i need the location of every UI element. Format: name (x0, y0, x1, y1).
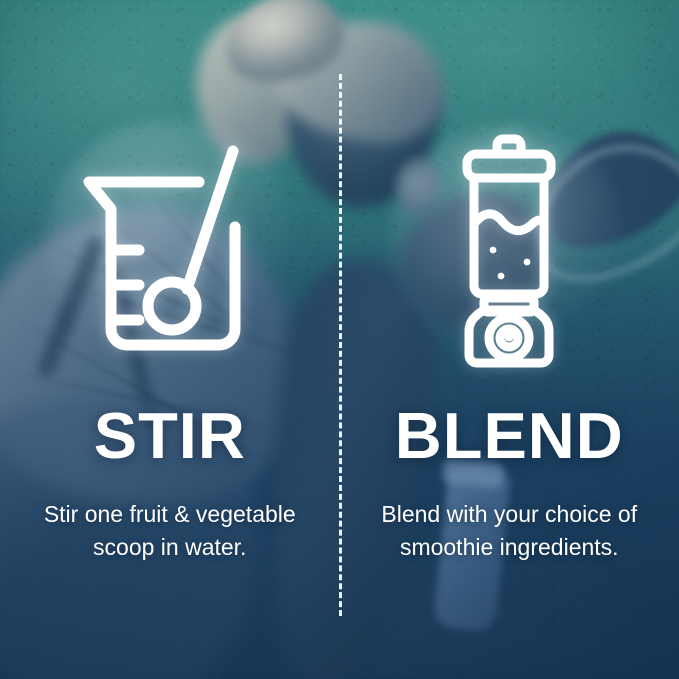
panel-stir: STIR Stir one fruit & vegetable scoop in… (0, 0, 340, 679)
instruction-graphic: STIR Stir one fruit & vegetable scoop in… (0, 0, 679, 679)
panel-blend: BLEND Blend with your choice of smoothie… (340, 0, 679, 679)
panel-headline: BLEND (340, 403, 679, 468)
panel-caption: Blend with your choice of smoothie ingre… (340, 498, 679, 564)
measuring-cup-with-stirrer-icon (81, 143, 259, 368)
panel-headline: STIR (0, 403, 340, 468)
panel-caption: Stir one fruit & vegetable scoop in wate… (0, 498, 340, 564)
blender-icon (443, 126, 575, 381)
panel-container: STIR Stir one fruit & vegetable scoop in… (0, 0, 679, 679)
